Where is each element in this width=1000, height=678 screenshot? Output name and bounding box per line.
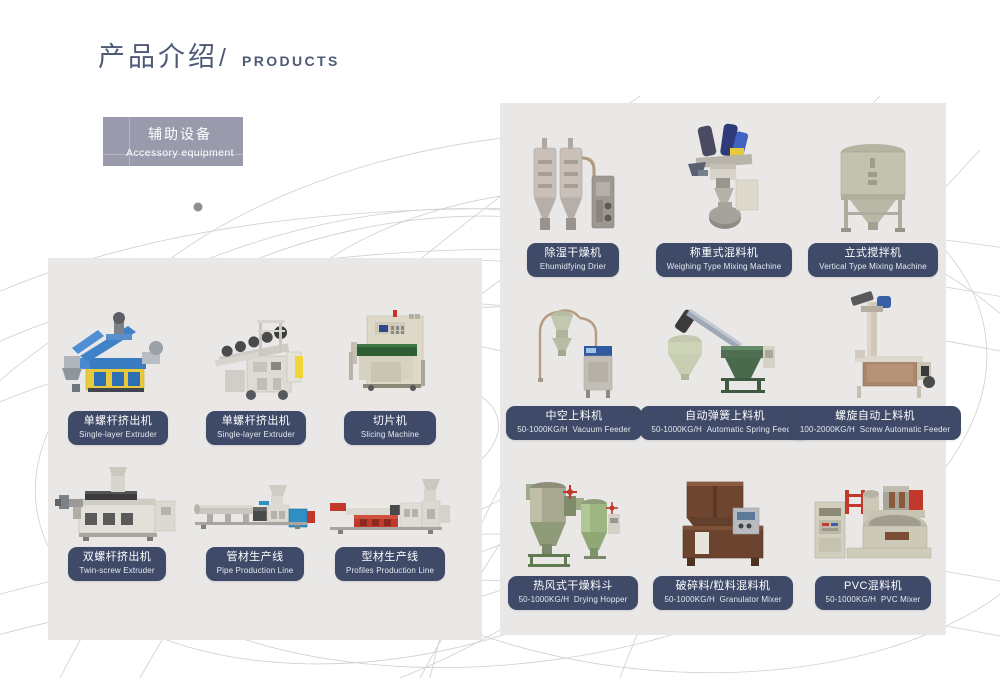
title-separator: /	[219, 44, 226, 73]
product-badge[interactable]: 单螺杆挤出机 Single-layer Extruder	[68, 411, 168, 445]
product-badge[interactable]: 自动弹簧上料机 50-1000KG/H Automatic Spring Fee…	[640, 406, 809, 440]
product-cell-screw-automatic-feeder[interactable]: 螺旋自动上料机 100-2000KG/H Screw Automatic Fee…	[805, 290, 945, 440]
product-label-en: Weighing Type Mixing Machine	[667, 262, 782, 272]
product-label-cn: 热风式干燥料斗	[519, 580, 628, 594]
category-tag-accessory-equipment[interactable]: 辅助设备 Accessory equipment	[103, 117, 243, 166]
product-label-en-text: Screw Automatic Feeder	[860, 425, 950, 434]
product-label-en: Single-layer Extruder	[217, 430, 295, 440]
product-cell-pvc-mixer[interactable]: PVC混料机 50-1000KG/H PVC Mixer	[805, 470, 941, 610]
product-badge[interactable]: 除湿干燥机 Ehumidfying Drier	[527, 243, 619, 277]
product-cell-single-layer-extruder-1[interactable]: 单螺杆挤出机 Single-layer Extruder	[58, 300, 178, 445]
product-label-en: Profiles Production Line	[346, 566, 434, 576]
product-capacity: 50-1000KG/H	[826, 595, 877, 604]
product-label-cn: 单螺杆挤出机	[217, 415, 295, 429]
product-label-cn: 中空上料机	[517, 410, 631, 424]
product-label-en: 50-1000KG/H Vacuum Feeder	[517, 425, 631, 435]
product-badge[interactable]: 称重式混料机 Weighing Type Mixing Machine	[656, 243, 793, 277]
product-badge[interactable]: 型材生产线 Profiles Production Line	[335, 547, 445, 581]
product-badge[interactable]: 双螺杆挤出机 Twin-screw Extruder	[68, 547, 165, 581]
product-label-cn: 自动弹簧上料机	[651, 410, 798, 424]
product-badge[interactable]: 螺旋自动上料机 100-2000KG/H Screw Automatic Fee…	[789, 406, 961, 440]
product-label-cn: 单螺杆挤出机	[79, 415, 157, 429]
product-badge[interactable]: 单螺杆挤出机 Single-layer Extruder	[206, 411, 306, 445]
product-label-en: 50-1000KG/H PVC Mixer	[826, 595, 921, 605]
product-image-profiles-production-line	[324, 455, 456, 543]
product-image-pvc-mixer	[805, 470, 941, 570]
product-label-cn: 双螺杆挤出机	[79, 551, 154, 565]
product-label-en: 50-1000KG/H Automatic Spring Feeder	[651, 425, 798, 435]
product-label-cn: 切片机	[355, 415, 425, 429]
product-label-cn: 破碎料/粒料混料机	[664, 580, 781, 594]
product-label-en-text: Vacuum Feeder	[573, 425, 631, 434]
product-image-slicing-machine	[335, 300, 445, 405]
product-badge[interactable]: 热风式干燥料斗 50-1000KG/H Drying Hopper	[508, 576, 639, 610]
category-tag-label-cn: 辅助设备	[148, 124, 212, 144]
page-title: 产品介绍 / PRODUCTS	[98, 44, 340, 73]
product-image-single-screw-extruder-blue	[58, 300, 178, 405]
category-tag-label-en: Accessory equipment	[126, 147, 234, 159]
product-label-en: Twin-screw Extruder	[79, 566, 154, 576]
product-capacity: 100-2000KG/H	[800, 425, 855, 434]
product-cell-pipe-production-line[interactable]: 管材生产线 Pipe Production Line	[190, 455, 320, 581]
product-cell-vacuum-feeder[interactable]: 中空上料机 50-1000KG/H Vacuum Feeder	[512, 300, 636, 440]
product-label-en: Single-layer Extruder	[79, 430, 157, 440]
product-label-cn: 型材生产线	[346, 551, 434, 565]
page-title-cn: 产品介绍	[98, 44, 218, 71]
product-image-dehumidifying-drier	[520, 130, 626, 235]
product-label-en-text: PVC Mixer	[881, 595, 921, 604]
product-image-roller-conveyor-extruder	[195, 300, 317, 405]
product-badge[interactable]: 破碎料/粒料混料机 50-1000KG/H Granulator Mixer	[653, 576, 792, 610]
product-cell-drying-hopper[interactable]: 热风式干燥料斗 50-1000KG/H Drying Hopper	[510, 470, 636, 610]
product-image-twin-screw-extruder	[51, 455, 183, 543]
product-label-cn: 立式搅拌机	[819, 247, 927, 261]
product-label-en-text: Automatic Spring Feeder	[707, 425, 799, 434]
product-image-drying-hopper	[510, 470, 636, 570]
product-image-vacuum-feeder	[512, 300, 636, 400]
product-badge[interactable]: 立式搅拌机 Vertical Type Mixing Machine	[808, 243, 938, 277]
product-label-en: Vertical Type Mixing Machine	[819, 262, 927, 272]
product-label-en: Pipe Production Line	[217, 566, 294, 576]
product-label-cn: 管材生产线	[217, 551, 294, 565]
product-cell-profiles-production-line[interactable]: 型材生产线 Profiles Production Line	[325, 455, 455, 581]
product-badge[interactable]: 切片机 Slicing Machine	[344, 411, 436, 445]
product-image-screw-feeder	[805, 290, 945, 400]
product-label-en-text: Drying Hopper	[574, 595, 628, 604]
product-label-en: Ehumidfying Drier	[538, 262, 608, 272]
product-image-pipe-production-line	[189, 455, 321, 543]
product-label-cn: 螺旋自动上料机	[800, 410, 950, 424]
product-image-weighing-mixer	[660, 120, 788, 235]
product-label-en: 50-1000KG/H Drying Hopper	[519, 595, 628, 605]
product-label-en: 100-2000KG/H Screw Automatic Feeder	[800, 425, 950, 435]
product-label-en: 50-1000KG/H Granulator Mixer	[664, 595, 781, 605]
product-image-spring-feeder	[655, 300, 795, 400]
product-label-en: Slicing Machine	[355, 430, 425, 440]
product-badge[interactable]: 管材生产线 Pipe Production Line	[206, 547, 305, 581]
product-cell-weighing-type-mixing-machine[interactable]: 称重式混料机 Weighing Type Mixing Machine	[660, 120, 788, 277]
product-label-cn: 称重式混料机	[667, 247, 782, 261]
product-capacity: 50-1000KG/H	[651, 425, 702, 434]
product-capacity: 50-1000KG/H	[664, 595, 715, 604]
product-cell-granulator-mixer[interactable]: 破碎料/粒料混料机 50-1000KG/H Granulator Mixer	[655, 470, 791, 610]
product-badge[interactable]: PVC混料机 50-1000KG/H PVC Mixer	[815, 576, 932, 610]
product-cell-slicing-machine[interactable]: 切片机 Slicing Machine	[335, 300, 445, 445]
product-cell-single-layer-extruder-2[interactable]: 单螺杆挤出机 Single-layer Extruder	[196, 300, 316, 445]
product-label-cn: PVC混料机	[826, 580, 921, 594]
product-label-cn: 除湿干燥机	[538, 247, 608, 261]
product-image-vertical-silo-mixer	[810, 130, 936, 235]
product-badge[interactable]: 中空上料机 50-1000KG/H Vacuum Feeder	[506, 406, 642, 440]
product-cell-vertical-type-mixing-machine[interactable]: 立式搅拌机 Vertical Type Mixing Machine	[810, 130, 936, 277]
product-cell-automatic-spring-feeder[interactable]: 自动弹簧上料机 50-1000KG/H Automatic Spring Fee…	[655, 300, 795, 440]
product-label-en-text: Granulator Mixer	[720, 595, 782, 604]
product-capacity: 50-1000KG/H	[519, 595, 570, 604]
product-image-granulator-mixer	[655, 470, 791, 570]
product-capacity: 50-1000KG/H	[517, 425, 568, 434]
page-title-en: PRODUCTS	[242, 53, 340, 69]
product-cell-dehumidifying-drier[interactable]: 除湿干燥机 Ehumidfying Drier	[520, 130, 626, 277]
product-cell-twin-screw-extruder[interactable]: 双螺杆挤出机 Twin-screw Extruder	[52, 455, 182, 581]
